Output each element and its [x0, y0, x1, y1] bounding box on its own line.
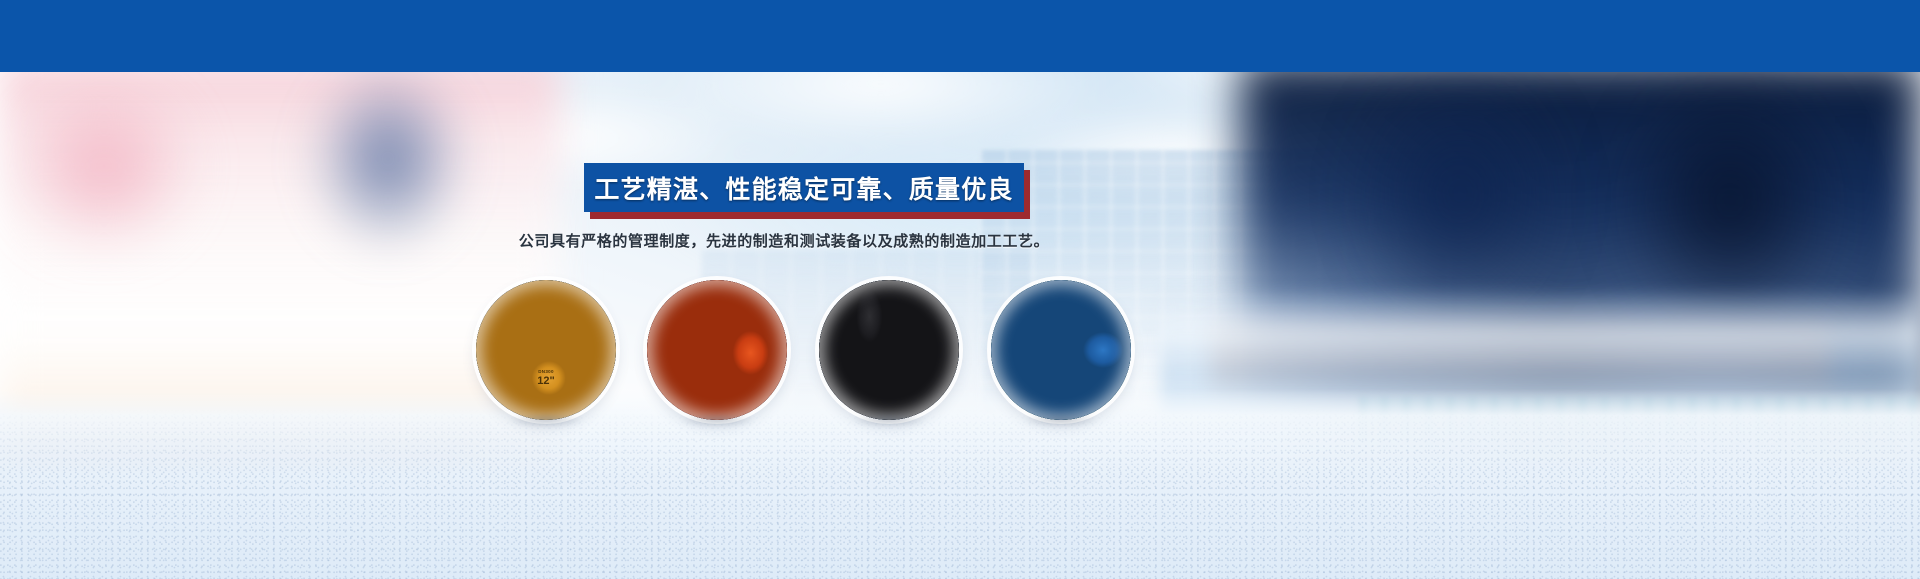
gallery-item-slurry-pumps[interactable]	[647, 280, 787, 420]
photo-slurry-pumps	[647, 280, 787, 420]
circle-shadow-2	[665, 412, 769, 428]
banner-stage: 工艺精湛、性能稳定可靠、质量优良 公司具有严格的管理制度，先进的制造和测试装备以…	[0, 0, 1920, 579]
photo-diesel-engine-pump-set	[991, 280, 1131, 420]
product-circle-gallery: DN300 12"	[0, 280, 1568, 460]
gallery-item-vertical-inline-pumps[interactable]	[819, 280, 959, 420]
circle-photo-2[interactable]	[647, 280, 787, 420]
gallery-item-split-case-pump[interactable]: DN300 12"	[476, 280, 616, 420]
circle-shadow-3	[837, 412, 941, 428]
headline-text: 工艺精湛、性能稳定可靠、质量优良	[594, 170, 1013, 206]
photo-split-case-pump: DN300 12"	[476, 280, 616, 420]
left-pink-blob	[0, 70, 260, 310]
subtitle-text: 公司具有严格的管理制度，先进的制造和测试装备以及成熟的制造加工工艺。	[0, 230, 1568, 251]
circle-shadow-1	[494, 412, 598, 428]
circle-shadow-4	[1009, 412, 1113, 428]
pump-flange-label: DN300 12"	[537, 370, 554, 387]
headline-box: 工艺精湛、性能稳定可靠、质量优良	[584, 163, 1024, 212]
top-blue-bar	[0, 0, 1920, 72]
pump-flange-label-size: 12"	[537, 374, 554, 386]
gallery-item-diesel-engine-pump-set[interactable]	[991, 280, 1131, 420]
headline-block: 工艺精湛、性能稳定可靠、质量优良	[584, 163, 1024, 212]
photo-vertical-inline-pumps	[819, 280, 959, 420]
circle-photo-4[interactable]	[991, 280, 1131, 420]
circle-photo-1[interactable]: DN300 12"	[476, 280, 616, 420]
circle-photo-3[interactable]	[819, 280, 959, 420]
